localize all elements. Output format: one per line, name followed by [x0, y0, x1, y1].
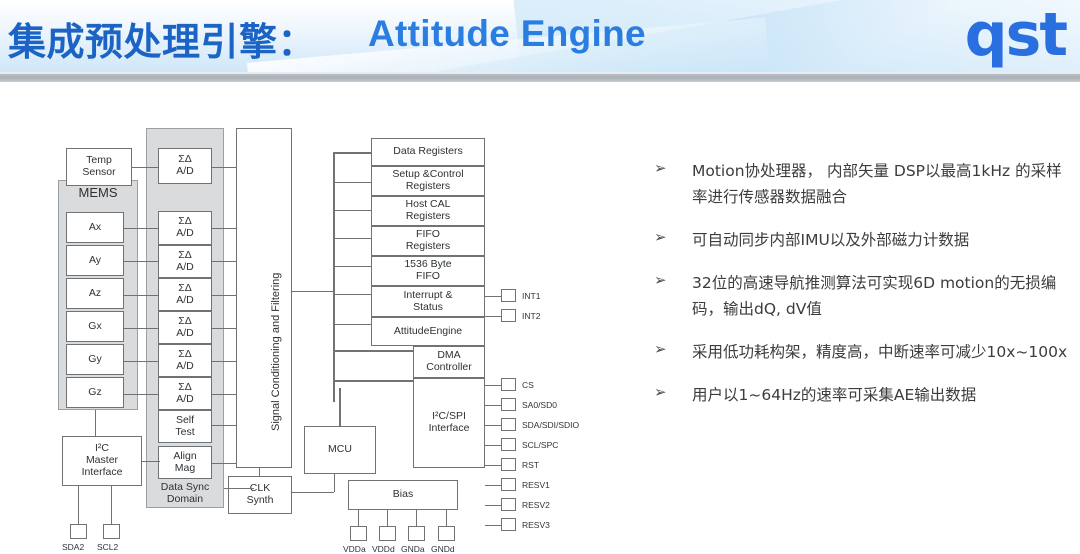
block-diagram: Temp Sensor MEMS Ax Ay Az Gx Gy Gz ΣΔ A/…	[0, 88, 640, 550]
pin-gnda	[408, 526, 425, 541]
wire	[334, 474, 335, 492]
wire	[124, 328, 158, 329]
wire	[485, 296, 501, 297]
list-item: ➢ 采用低功耗构架，精度高，中断速率可减少10x~100x	[648, 339, 1068, 365]
bullet-text: Motion协处理器， 内部矢量 DSP以最高1kHz 的采样率进行传感器数据融…	[692, 162, 1062, 206]
mems-sensor-gy: Gy	[66, 344, 124, 375]
adc-block-gx: ΣΔ A/D	[158, 311, 212, 344]
register-data-registers: Data Registers	[371, 138, 485, 166]
mems-sensor-gx: Gx	[66, 311, 124, 342]
bullet-arrow-icon: ➢	[654, 228, 667, 246]
bus-wire	[333, 152, 335, 402]
wire	[132, 167, 158, 168]
adc-block-gy: ΣΔ A/D	[158, 344, 212, 377]
wire	[292, 492, 334, 493]
header-divider	[0, 74, 1080, 82]
clk-synth-block: CLK Synth	[228, 476, 292, 514]
wire	[333, 380, 413, 382]
register-host-cal: Host CAL Registers	[371, 196, 485, 226]
pin-rst	[501, 458, 516, 471]
list-item: ➢ Motion协处理器， 内部矢量 DSP以最高1kHz 的采样率进行传感器数…	[648, 158, 1068, 210]
page-title-chinese: 集成预处理引擎：	[8, 11, 316, 66]
wire	[124, 228, 158, 229]
register-attitude-engine: AttitudeEngine	[371, 317, 485, 346]
wire	[387, 510, 388, 526]
pin-label-resv2: RESV2	[522, 500, 550, 510]
pin-label-sda2: SDA2	[62, 542, 84, 552]
wire	[124, 361, 158, 362]
wire	[333, 294, 371, 295]
register-1536-byte-fifo: 1536 Byte FIFO	[371, 256, 485, 286]
pin-scl-spc	[501, 438, 516, 451]
mems-label: MEMS	[58, 186, 138, 201]
adc-block-az: ΣΔ A/D	[158, 278, 212, 311]
pin-scl2	[103, 524, 120, 539]
pin-int2	[501, 309, 516, 322]
wire	[212, 261, 236, 262]
register-setup-control: Setup &Control Registers	[371, 166, 485, 196]
list-item: ➢ 可自动同步内部IMU以及外部磁力计数据	[648, 227, 1068, 253]
register-interrupt-status: Interrupt & Status	[371, 286, 485, 317]
wire	[212, 425, 236, 426]
pin-sda2	[70, 524, 87, 539]
bias-block: Bias	[348, 480, 458, 510]
pin-label-vddd: VDDd	[372, 544, 395, 554]
signal-conditioning-label: Signal Conditioning and Filtering	[270, 273, 282, 431]
list-item: ➢ 32位的高速导航推测算法可实现6D motion的无损编码，输出dQ, dV…	[648, 270, 1068, 322]
slide-header: 集成预处理引擎： Attitude Engine qst	[0, 0, 1080, 76]
feature-bullet-list: ➢ Motion协处理器， 内部矢量 DSP以最高1kHz 的采样率进行传感器数…	[648, 158, 1068, 425]
pin-label-sa0-sd0: SA0/SD0	[522, 400, 557, 410]
mems-sensor-gz: Gz	[66, 377, 124, 408]
pin-resv2	[501, 498, 516, 511]
wire	[485, 485, 501, 486]
pin-sda-sdi-sdio	[501, 418, 516, 431]
adc-block-ax: ΣΔ A/D	[158, 211, 212, 245]
pin-cs	[501, 378, 516, 391]
register-fifo-registers: FIFO Registers	[371, 226, 485, 256]
wire	[259, 468, 260, 476]
wire	[333, 238, 371, 239]
pin-vdda	[350, 526, 367, 541]
wire	[212, 295, 236, 296]
pin-label-scl-spc: SCL/SPC	[522, 440, 558, 450]
wire	[111, 486, 112, 524]
list-item: ➢ 用户以1~64Hz的速率可采集AE输出数据	[648, 382, 1068, 408]
pin-label-resv1: RESV1	[522, 480, 550, 490]
data-sync-domain-label: Data Sync Domain	[146, 482, 224, 506]
i2c-master-interface-block: I²C Master Interface	[62, 436, 142, 486]
qst-logo: qst	[965, 4, 1066, 66]
mems-sensor-az: Az	[66, 278, 124, 309]
wire	[333, 182, 371, 183]
pin-label-rst: RST	[522, 460, 539, 470]
wire	[224, 488, 254, 489]
pin-label-vdda: VDDa	[343, 544, 366, 554]
wire	[333, 266, 371, 267]
wire	[485, 405, 501, 406]
dma-controller-block: DMA Controller	[413, 346, 485, 378]
pin-label-int2: INT2	[522, 311, 540, 321]
pin-sa0-sd0	[501, 398, 516, 411]
pin-label-int1: INT1	[522, 291, 540, 301]
bullet-arrow-icon: ➢	[654, 383, 667, 401]
pin-label-scl2: SCL2	[97, 542, 118, 552]
bullet-text: 采用低功耗构架，精度高，中断速率可减少10x~100x	[692, 343, 1067, 361]
wire	[212, 463, 236, 464]
adc-block-ay: ΣΔ A/D	[158, 245, 212, 278]
bullet-text: 可自动同步内部IMU以及外部磁力计数据	[692, 231, 969, 249]
adc-block-temp: ΣΔ A/D	[158, 148, 212, 184]
wire	[485, 505, 501, 506]
wire	[333, 210, 371, 211]
wire	[416, 510, 417, 526]
wire	[124, 261, 158, 262]
wire	[485, 425, 501, 426]
page-title-english: Attitude Engine	[368, 13, 646, 55]
temp-sensor-block: Temp Sensor	[66, 148, 132, 186]
wire	[333, 152, 371, 154]
wire	[95, 410, 96, 436]
wire	[485, 385, 501, 386]
wire	[124, 295, 158, 296]
bullet-text: 用户以1~64Hz的速率可采集AE输出数据	[692, 386, 976, 404]
wire	[212, 394, 236, 395]
pin-label-gndd: GNDd	[431, 544, 455, 554]
pin-vddd	[379, 526, 396, 541]
i2c-spi-interface-block: I²C/SPI Interface	[413, 378, 485, 468]
pin-gndd	[438, 526, 455, 541]
wire	[212, 167, 236, 168]
wire	[339, 388, 341, 426]
pin-resv3	[501, 518, 516, 531]
wire	[446, 510, 447, 526]
wire	[358, 510, 359, 526]
align-mag-block: Align Mag	[158, 446, 212, 479]
mems-sensor-ay: Ay	[66, 245, 124, 276]
bullet-arrow-icon: ➢	[654, 340, 667, 358]
mcu-block: MCU	[304, 426, 376, 474]
wire	[333, 324, 371, 325]
wire	[485, 525, 501, 526]
wire	[333, 350, 413, 352]
bullet-text: 32位的高速导航推测算法可实现6D motion的无损编码，输出dQ, dV值	[692, 274, 1056, 318]
wire	[485, 465, 501, 466]
wire	[212, 361, 236, 362]
self-test-block: Self Test	[158, 410, 212, 443]
pin-resv1	[501, 478, 516, 491]
wire	[292, 291, 335, 292]
mems-sensor-ax: Ax	[66, 212, 124, 243]
wire	[485, 316, 501, 317]
wire	[124, 394, 158, 395]
wire	[78, 486, 79, 524]
pin-label-sda-sdi-sdio: SDA/SDI/SDIO	[522, 420, 579, 430]
bullet-arrow-icon: ➢	[654, 159, 667, 177]
bullet-arrow-icon: ➢	[654, 271, 667, 289]
pin-label-gnda: GNDa	[401, 544, 425, 554]
pin-label-cs: CS	[522, 380, 534, 390]
pin-int1	[501, 289, 516, 302]
wire	[485, 445, 501, 446]
adc-block-gz: ΣΔ A/D	[158, 377, 212, 410]
wire	[212, 328, 236, 329]
wire	[142, 461, 160, 462]
signal-conditioning-block: Signal Conditioning and Filtering	[236, 128, 292, 468]
wire	[212, 228, 236, 229]
pin-label-resv3: RESV3	[522, 520, 550, 530]
